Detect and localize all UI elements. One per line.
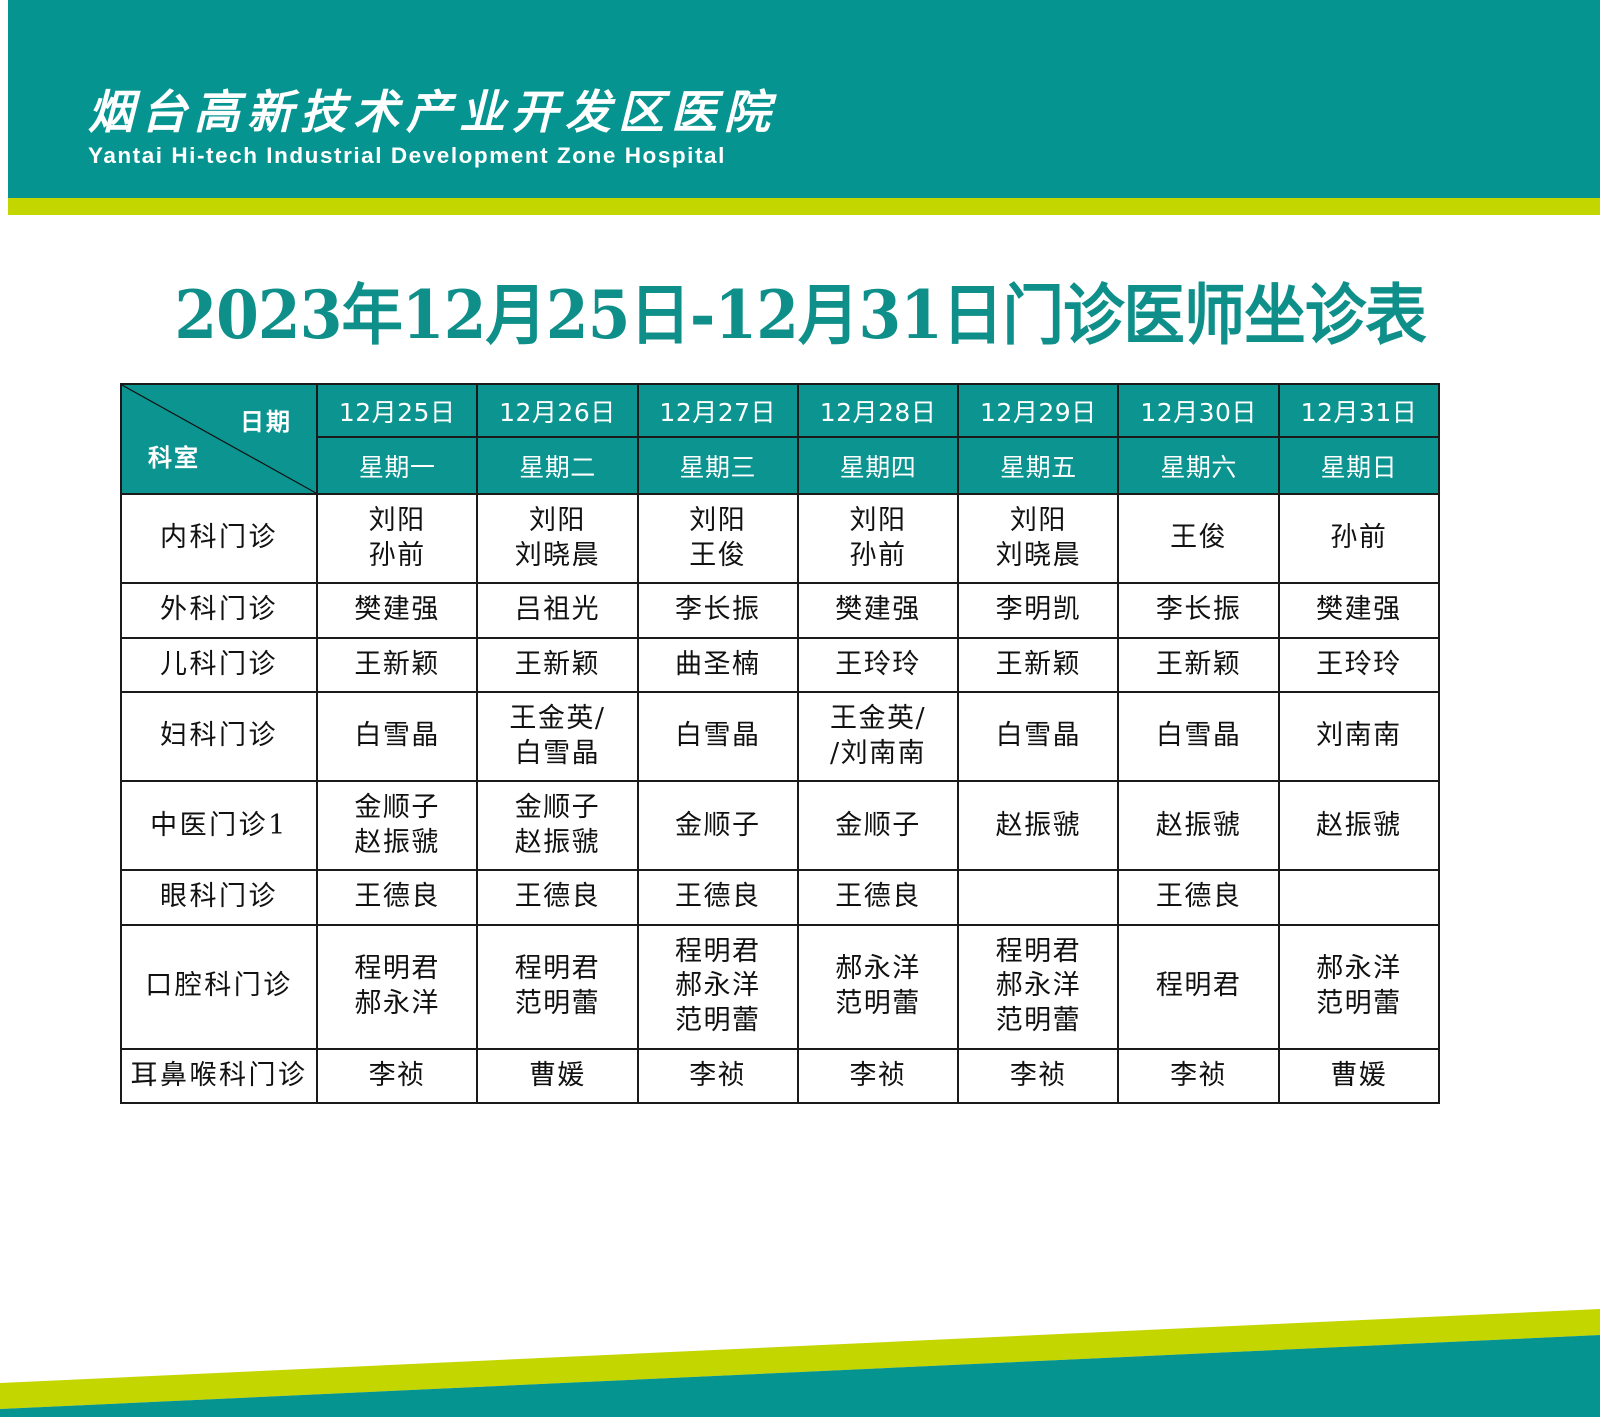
table-row: 耳鼻喉科门诊 李祯 曹媛 李祯 李祯 李祯 李祯 曹媛 bbox=[121, 1049, 1439, 1104]
table-row: 妇科门诊 白雪晶 王金英/ 白雪晶 白雪晶 王金英/ /刘南南 白雪晶 白雪晶 … bbox=[121, 692, 1439, 781]
schedule-cell: 李祯 bbox=[1118, 1049, 1278, 1104]
schedule-cell: 王德良 bbox=[638, 870, 798, 925]
schedule-cell: 李明凯 bbox=[958, 583, 1118, 638]
department-name: 儿科门诊 bbox=[121, 638, 317, 693]
schedule-cell: 刘阳 刘晓晨 bbox=[958, 494, 1118, 583]
table-header: 日期 科室 12月25日 12月26日 12月27日 12月28日 12月29日… bbox=[121, 384, 1439, 494]
schedule-cell: 刘阳 王俊 bbox=[638, 494, 798, 583]
header-date-1: 12月25日 bbox=[317, 384, 477, 437]
schedule-cell: 金顺子 赵振虢 bbox=[477, 781, 637, 870]
schedule-cell: 刘阳 孙前 bbox=[798, 494, 958, 583]
schedule-cell: 程明君 郝永洋 范明蕾 bbox=[958, 925, 1118, 1049]
schedule-cell: 金顺子 bbox=[638, 781, 798, 870]
department-name: 妇科门诊 bbox=[121, 692, 317, 781]
schedule-cell-empty bbox=[958, 870, 1118, 925]
page-title: 2023年12月25日-12月31日门诊医师坐诊表 bbox=[56, 262, 1544, 358]
schedule-cell: 李祯 bbox=[958, 1049, 1118, 1104]
schedule-cell: 白雪晶 bbox=[1118, 692, 1278, 781]
schedule-cell: 吕祖光 bbox=[477, 583, 637, 638]
department-name: 眼科门诊 bbox=[121, 870, 317, 925]
schedule-cell: 王德良 bbox=[477, 870, 637, 925]
header-row-weekdays: 星期一 星期二 星期三 星期四 星期五 星期六 星期日 bbox=[121, 437, 1439, 494]
schedule-cell: 王德良 bbox=[1118, 870, 1278, 925]
schedule-cell: 樊建强 bbox=[317, 583, 477, 638]
corner-date-label: 日期 bbox=[240, 402, 292, 437]
header-weekday-2: 星期二 bbox=[477, 437, 637, 494]
hospital-logo: 烟台高新技术产业开发区医院 Yantai Hi-tech Industrial … bbox=[88, 86, 808, 169]
schedule-cell: 曹媛 bbox=[1279, 1049, 1439, 1104]
schedule-cell: 白雪晶 bbox=[958, 692, 1118, 781]
schedule-cell: 王新颖 bbox=[317, 638, 477, 693]
header-row-dates: 日期 科室 12月25日 12月26日 12月27日 12月28日 12月29日… bbox=[121, 384, 1439, 437]
corner-header-cell: 日期 科室 bbox=[121, 384, 317, 494]
department-name: 中医门诊1 bbox=[121, 781, 317, 870]
header-accent-stripe bbox=[8, 198, 1600, 215]
schedule-cell: 金顺子 赵振虢 bbox=[317, 781, 477, 870]
header-weekday-4: 星期四 bbox=[798, 437, 958, 494]
schedule-cell: 李祯 bbox=[317, 1049, 477, 1104]
department-name: 内科门诊 bbox=[121, 494, 317, 583]
schedule-cell: 白雪晶 bbox=[638, 692, 798, 781]
doctor-schedule-table: 日期 科室 12月25日 12月26日 12月27日 12月28日 12月29日… bbox=[120, 383, 1440, 1104]
header-weekday-5: 星期五 bbox=[958, 437, 1118, 494]
table-row: 眼科门诊 王德良 王德良 王德良 王德良 王德良 bbox=[121, 870, 1439, 925]
footer-decoration bbox=[0, 1217, 1600, 1417]
header-date-6: 12月30日 bbox=[1118, 384, 1278, 437]
schedule-cell: 王新颖 bbox=[1118, 638, 1278, 693]
table-row: 口腔科门诊 程明君 郝永洋 程明君 范明蕾 程明君 郝永洋 范明蕾 郝永洋 范明… bbox=[121, 925, 1439, 1049]
table-row: 儿科门诊 王新颖 王新颖 曲圣楠 王玲玲 王新颖 王新颖 王玲玲 bbox=[121, 638, 1439, 693]
schedule-cell: 李长振 bbox=[1118, 583, 1278, 638]
schedule-cell: 刘阳 刘晓晨 bbox=[477, 494, 637, 583]
header-weekday-6: 星期六 bbox=[1118, 437, 1278, 494]
schedule-cell: 李祯 bbox=[638, 1049, 798, 1104]
schedule-cell: 郝永洋 范明蕾 bbox=[798, 925, 958, 1049]
hospital-name-cn: 烟台高新技术产业开发区医院 bbox=[88, 86, 808, 139]
header-date-4: 12月28日 bbox=[798, 384, 958, 437]
schedule-cell: 王德良 bbox=[798, 870, 958, 925]
header-date-7: 12月31日 bbox=[1279, 384, 1439, 437]
schedule-cell: 赵振虢 bbox=[1279, 781, 1439, 870]
schedule-cell: 赵振虢 bbox=[1118, 781, 1278, 870]
table-row: 内科门诊 刘阳 孙前 刘阳 刘晓晨 刘阳 王俊 刘阳 孙前 刘阳 刘晓晨 王俊 … bbox=[121, 494, 1439, 583]
schedule-cell: 王玲玲 bbox=[1279, 638, 1439, 693]
header-weekday-1: 星期一 bbox=[317, 437, 477, 494]
table-row: 外科门诊 樊建强 吕祖光 李长振 樊建强 李明凯 李长振 樊建强 bbox=[121, 583, 1439, 638]
hospital-name-en: Yantai Hi-tech Industrial Development Zo… bbox=[88, 143, 808, 169]
schedule-cell: 曲圣楠 bbox=[638, 638, 798, 693]
schedule-cell: 刘阳 孙前 bbox=[317, 494, 477, 583]
schedule-cell: 李长振 bbox=[638, 583, 798, 638]
table-body: 内科门诊 刘阳 孙前 刘阳 刘晓晨 刘阳 王俊 刘阳 孙前 刘阳 刘晓晨 王俊 … bbox=[121, 494, 1439, 1103]
header-date-2: 12月26日 bbox=[477, 384, 637, 437]
corner-dept-label: 科室 bbox=[148, 438, 200, 473]
schedule-cell: 王新颖 bbox=[477, 638, 637, 693]
schedule-cell: 金顺子 bbox=[798, 781, 958, 870]
schedule-cell: 王德良 bbox=[317, 870, 477, 925]
schedule-cell: 李祯 bbox=[798, 1049, 958, 1104]
schedule-cell: 程明君 bbox=[1118, 925, 1278, 1049]
schedule-cell-empty bbox=[1279, 870, 1439, 925]
header-date-3: 12月27日 bbox=[638, 384, 798, 437]
header-date-5: 12月29日 bbox=[958, 384, 1118, 437]
schedule-cell: 程明君 范明蕾 bbox=[477, 925, 637, 1049]
header-weekday-3: 星期三 bbox=[638, 437, 798, 494]
schedule-cell: 白雪晶 bbox=[317, 692, 477, 781]
department-name: 口腔科门诊 bbox=[121, 925, 317, 1049]
schedule-cell: 王俊 bbox=[1118, 494, 1278, 583]
schedule-cell: 樊建强 bbox=[798, 583, 958, 638]
table-row: 中医门诊1 金顺子 赵振虢 金顺子 赵振虢 金顺子 金顺子 赵振虢 赵振虢 赵振… bbox=[121, 781, 1439, 870]
schedule-cell: 程明君 郝永洋 范明蕾 bbox=[638, 925, 798, 1049]
schedule-cell: 王新颖 bbox=[958, 638, 1118, 693]
schedule-cell: 樊建强 bbox=[1279, 583, 1439, 638]
department-name: 耳鼻喉科门诊 bbox=[121, 1049, 317, 1104]
schedule-cell: 王玲玲 bbox=[798, 638, 958, 693]
header-weekday-7: 星期日 bbox=[1279, 437, 1439, 494]
schedule-cell: 孙前 bbox=[1279, 494, 1439, 583]
schedule-cell: 刘南南 bbox=[1279, 692, 1439, 781]
schedule-cell: 程明君 郝永洋 bbox=[317, 925, 477, 1049]
schedule-cell: 赵振虢 bbox=[958, 781, 1118, 870]
schedule-cell: 王金英/ 白雪晶 bbox=[477, 692, 637, 781]
schedule-cell: 曹媛 bbox=[477, 1049, 637, 1104]
department-name: 外科门诊 bbox=[121, 583, 317, 638]
schedule-cell: 郝永洋 范明蕾 bbox=[1279, 925, 1439, 1049]
schedule-cell: 王金英/ /刘南南 bbox=[798, 692, 958, 781]
